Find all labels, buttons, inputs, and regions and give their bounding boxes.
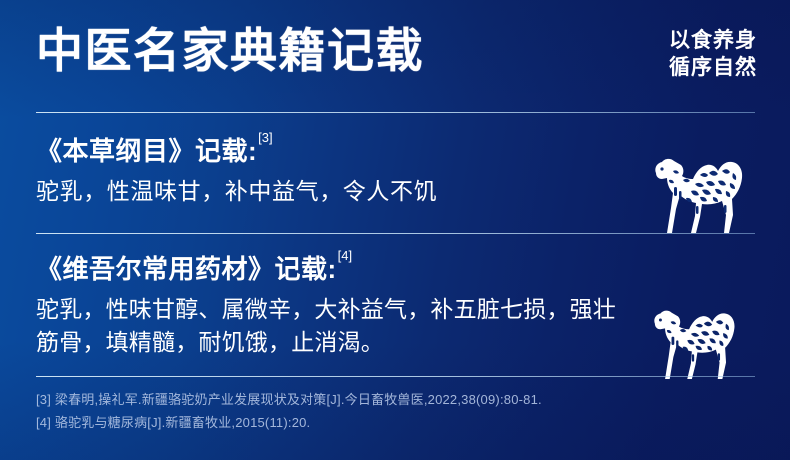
quote-block-1: 《本草纲目》记载:[3] 驼乳，性温味甘，补中益气，令人不饥 (36, 134, 636, 208)
quote-source-2-label: 《维吾尔常用药材》记载: (36, 254, 337, 284)
quote-ref-2: [4] (338, 248, 352, 263)
quote-ref-1: [3] (258, 130, 272, 145)
camel-icon (638, 296, 742, 381)
quote-source-2: 《维吾尔常用药材》记载:[4] (36, 252, 624, 286)
footnotes: [3] 梁春明,操礼军.新疆骆驼奶产业发展现状及对策[J].今日畜牧兽医,202… (36, 388, 736, 434)
quote-source-1-label: 《本草纲目》记载: (36, 136, 257, 166)
header: 中医名家典籍记载 以食养身 循序自然 (0, 0, 790, 104)
divider-middle (36, 233, 755, 234)
footnote-4: [4] 骆驼乳与糖尿病[J].新疆畜牧业,2015(11):20. (36, 411, 736, 434)
page-title: 中医名家典籍记载 (36, 24, 424, 78)
footnote-3: [3] 梁春明,操礼军.新疆骆驼奶产业发展现状及对策[J].今日畜牧兽医,202… (36, 388, 736, 411)
slogan-line-1: 以食养身 (669, 27, 757, 54)
quote-block-2: 《维吾尔常用药材》记载:[4] 驼乳，性味甘醇、属微辛，大补益气，补五脏七损，强… (36, 252, 624, 359)
quote-text-2: 驼乳，性味甘醇、属微辛，大补益气，补五脏七损，强壮筋骨，填精髓，耐饥饿，止消渴。 (36, 293, 624, 359)
camel-icon (638, 143, 750, 235)
divider-top (36, 112, 755, 113)
quote-text-1: 驼乳，性温味甘，补中益气，令人不饥 (36, 175, 636, 208)
slogan-line-2: 循序自然 (669, 54, 757, 81)
poster-root: 中医名家典籍记载 以食养身 循序自然 《本草纲目》记载:[3] 驼乳，性温味甘，… (0, 0, 790, 460)
divider-bottom (36, 376, 755, 377)
slogan: 以食养身 循序自然 (669, 27, 757, 81)
quote-source-1: 《本草纲目》记载:[3] (36, 134, 636, 168)
